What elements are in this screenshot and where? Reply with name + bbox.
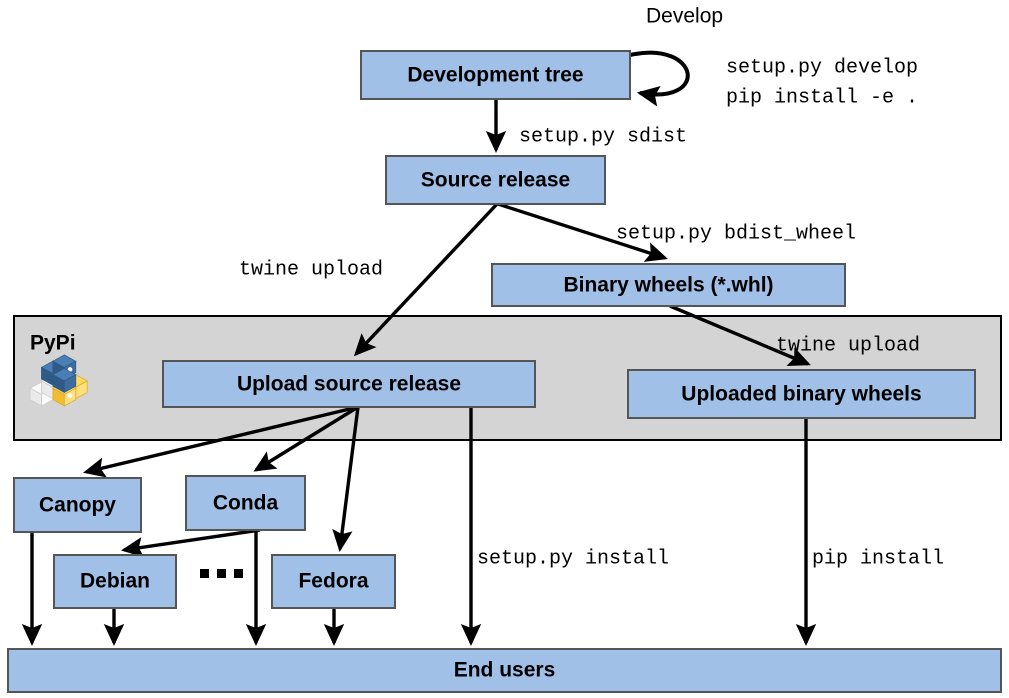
edge-label-setup-py-bdist-wheel: setup.py bdist_wheel <box>616 222 856 245</box>
node-label-debian: Debian <box>80 570 150 593</box>
node-fedora[interactable]: Fedora <box>272 555 395 608</box>
node-label-development-tree: Development tree <box>407 64 583 87</box>
more-distros-ellipsis <box>200 569 243 578</box>
node-label-fedora: Fedora <box>298 570 368 593</box>
edge-develop-self-loop <box>630 53 688 95</box>
edge-label-setup-py-develop: setup.py develop <box>726 56 918 79</box>
node-upload-source-release[interactable]: Upload source release <box>163 361 535 407</box>
edge-label-setup-py-install: setup.py install <box>477 547 669 570</box>
node-development-tree[interactable]: Development tree <box>361 51 630 99</box>
node-label-uploaded-binary-wheels: Uploaded binary wheels <box>681 383 921 406</box>
edge-conda-to-debian <box>124 530 260 550</box>
node-label-conda: Conda <box>213 492 279 515</box>
edge-label-twine-upload-wheels: twine upload <box>776 334 920 357</box>
node-canopy[interactable]: Canopy <box>14 478 141 532</box>
edge-label-develop: Develop <box>646 5 723 28</box>
node-label-source-release: Source release <box>421 169 570 192</box>
node-debian[interactable]: Debian <box>54 555 176 608</box>
edge-label-pip-install: pip install <box>812 547 944 570</box>
node-source-release[interactable]: Source release <box>386 156 605 204</box>
node-label-upload-source-release: Upload source release <box>237 373 461 396</box>
node-binary-wheels[interactable]: Binary wheels (*.whl) <box>492 264 845 306</box>
node-end-users[interactable]: End users <box>8 649 1001 692</box>
packaging-flow-diagram: PyPi <box>0 0 1009 698</box>
edge-label-twine-upload-source: twine upload <box>239 258 383 281</box>
pypi-group-label: PyPi <box>30 332 76 355</box>
node-label-end-users: End users <box>454 659 556 682</box>
node-uploaded-binary-wheels[interactable]: Uploaded binary wheels <box>628 370 975 418</box>
node-label-binary-wheels: Binary wheels (*.whl) <box>563 274 773 297</box>
node-label-canopy: Canopy <box>39 494 116 517</box>
edge-label-setup-py-sdist: setup.py sdist <box>519 125 687 148</box>
node-conda[interactable]: Conda <box>186 476 305 530</box>
edge-label-pip-install-e: pip install -e . <box>726 86 918 109</box>
